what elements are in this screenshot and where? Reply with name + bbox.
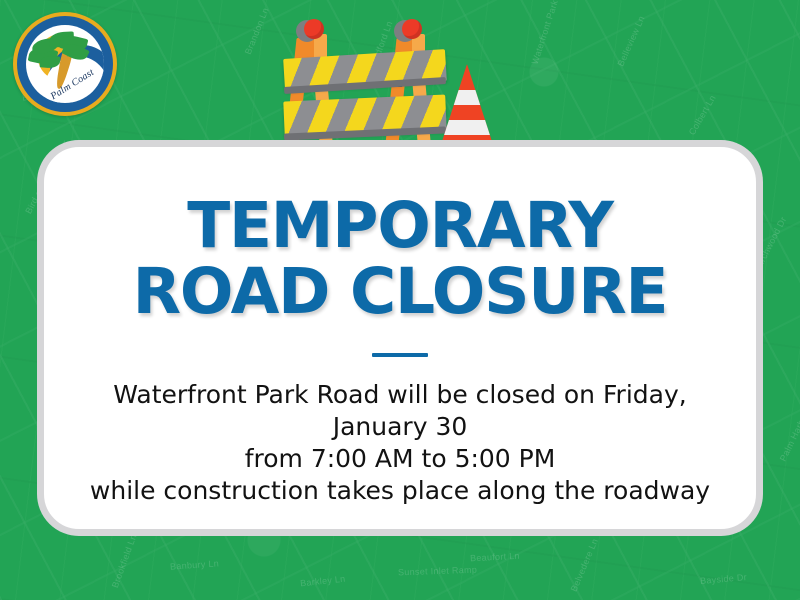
map-label: Sunset Inlet Ramp	[398, 565, 477, 578]
map-label: Bayside Dr	[700, 572, 748, 586]
map-label: Waterfront Park Rd	[530, 0, 565, 66]
seal-face: Palm Coast	[26, 25, 104, 103]
warning-light-lens	[304, 19, 324, 39]
map-label: Beaufort Ln	[470, 551, 520, 564]
headline-line-1: TEMPORARY	[187, 189, 613, 262]
poster-canvas: Bird of Paradise Dr Beachway Dr Brandon …	[0, 0, 800, 600]
title-divider	[372, 353, 428, 357]
body-line-1: Waterfront Park Road will be closed on F…	[90, 379, 710, 411]
announcement-body: Waterfront Park Road will be closed on F…	[68, 379, 732, 507]
body-line-3: from 7:00 AM to 5:00 PM	[90, 443, 710, 475]
map-label: Brookfield Ln	[110, 533, 139, 589]
map-label: Palm Harbor Pkwy	[778, 387, 800, 463]
body-line-4: while construction takes place along the…	[90, 475, 710, 507]
city-seal-logo: Palm Coast	[13, 12, 117, 116]
map-label: Barkley Ln	[300, 574, 346, 589]
map-label: Colbert Ln	[687, 93, 718, 137]
map-label: Belleview Ln	[615, 14, 646, 68]
warning-light-lens	[402, 19, 422, 39]
map-label: Brandon Ln	[243, 6, 271, 56]
body-line-2: January 30	[90, 411, 710, 443]
map-label: Banbury Ln	[170, 558, 220, 571]
seal-blue-ring: Palm Coast	[17, 16, 113, 112]
map-label: Belvedere Ln	[569, 537, 600, 593]
cone-band-lower	[424, 120, 510, 135]
page-title: TEMPORARY ROAD CLOSURE	[133, 193, 668, 325]
announcement-card: TEMPORARY ROAD CLOSURE Waterfront Park R…	[37, 140, 763, 536]
cone-band-upper	[424, 90, 510, 105]
headline-line-2: ROAD CLOSURE	[133, 255, 668, 328]
